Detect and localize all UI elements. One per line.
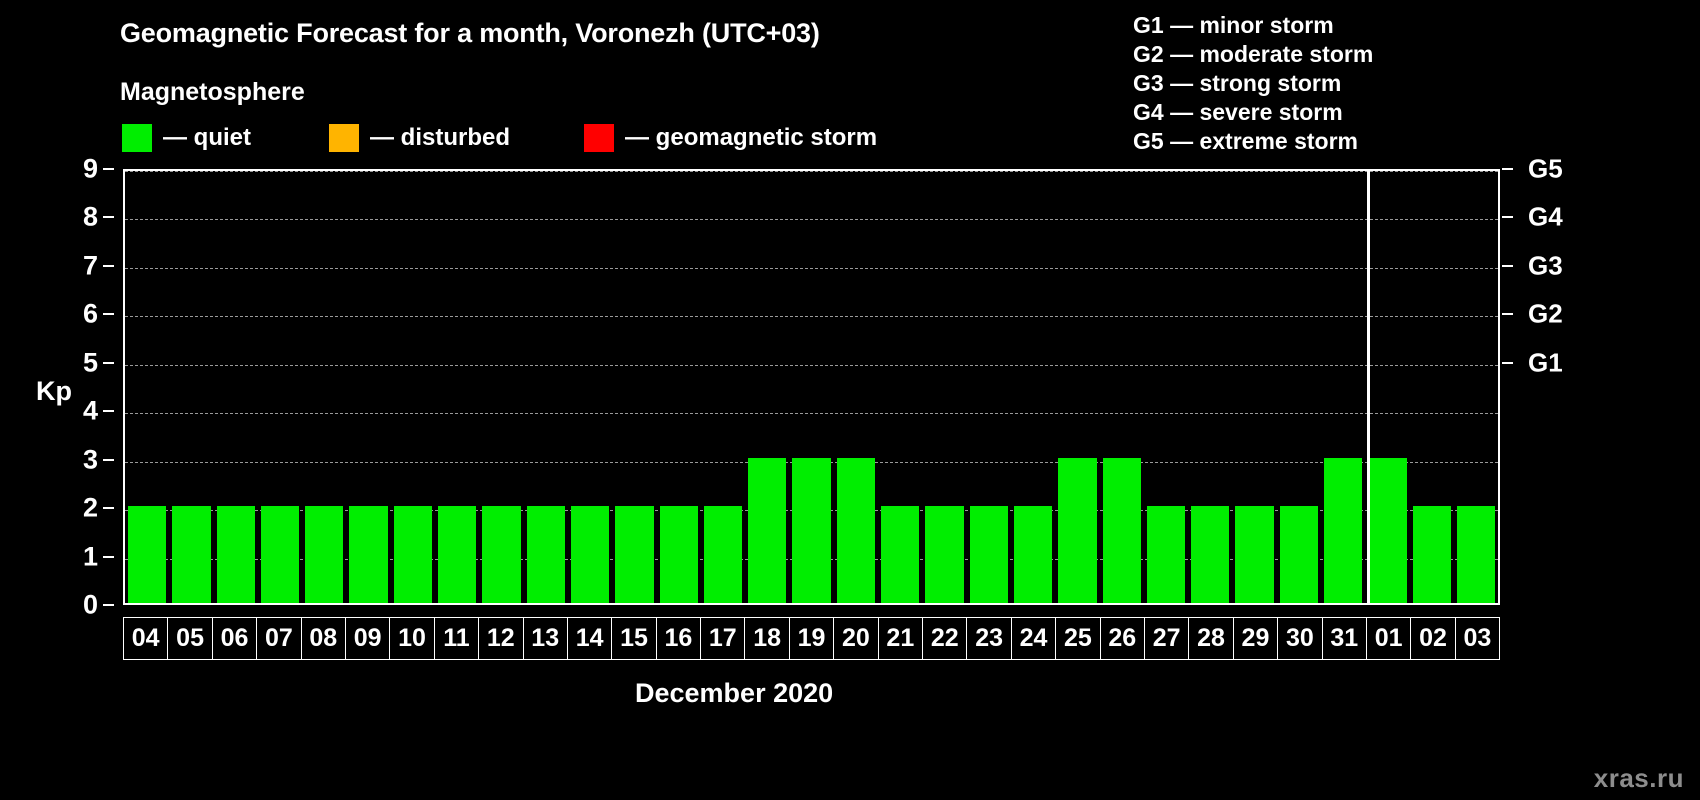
date-label-04[interactable]: 04 (124, 618, 168, 659)
y-tick-mark-1 (103, 556, 114, 558)
date-label-27[interactable]: 27 (1145, 618, 1189, 659)
date-label-02[interactable]: 02 (1411, 618, 1455, 659)
date-label-07[interactable]: 07 (257, 618, 301, 659)
bar-28[interactable] (1191, 506, 1229, 603)
bar-21[interactable] (881, 506, 919, 603)
y-tick-mark-8 (103, 216, 114, 218)
bar-cell[interactable] (701, 171, 745, 603)
bar-cell[interactable] (214, 171, 258, 603)
g-scale-row-g2: G2 — moderate storm (1133, 40, 1373, 69)
magnetosphere-heading: Magnetosphere (120, 78, 305, 107)
bar-cell[interactable] (657, 171, 701, 603)
bar-cell[interactable] (1365, 171, 1409, 603)
y-tick-label-6: 6 (83, 299, 98, 330)
bar-12[interactable] (482, 506, 520, 603)
color-swatch-icon-storm (584, 124, 614, 152)
bar-cell[interactable] (1454, 171, 1498, 603)
g-tick-mark-g1 (1502, 362, 1513, 364)
x-axis-title: December 2020 (635, 678, 833, 709)
date-label-31[interactable]: 31 (1323, 618, 1367, 659)
bar-cell[interactable] (967, 171, 1011, 603)
g-tick-mark-g2 (1502, 313, 1513, 315)
bar-cell[interactable] (1100, 171, 1144, 603)
y-tick-mark-2 (103, 507, 114, 509)
bar-cell[interactable] (612, 171, 656, 603)
y-tick-label-4: 4 (83, 396, 98, 427)
bar-cell[interactable] (1055, 171, 1099, 603)
bar-13[interactable] (527, 506, 565, 603)
y-tick-mark-9 (103, 168, 114, 170)
g-scale-row-g5: G5 — extreme storm (1133, 127, 1373, 156)
bar-cell[interactable] (878, 171, 922, 603)
bar-30[interactable] (1280, 506, 1318, 603)
bar-23[interactable] (970, 506, 1008, 603)
g-tick-label-g3: G3 (1528, 250, 1563, 281)
g-scale-row-g4: G4 — severe storm (1133, 98, 1373, 127)
bar-cell[interactable] (1277, 171, 1321, 603)
bar-cell[interactable] (479, 171, 523, 603)
bar-24[interactable] (1014, 506, 1052, 603)
bar-cell[interactable] (922, 171, 966, 603)
bar-31[interactable] (1324, 458, 1362, 603)
bar-cell[interactable] (1232, 171, 1276, 603)
g-scale-row-g3: G3 — strong storm (1133, 69, 1373, 98)
bar-15[interactable] (615, 506, 653, 603)
date-label-05[interactable]: 05 (168, 618, 212, 659)
plot-area (123, 169, 1500, 605)
bar-series (125, 171, 1498, 603)
month-divider-line (1367, 171, 1370, 603)
bar-cell[interactable] (1011, 171, 1055, 603)
date-axis: 0405060708091011121314151617181920212223… (123, 617, 1500, 660)
bar-cell[interactable] (568, 171, 612, 603)
bar-cell[interactable] (834, 171, 878, 603)
y-tick-mark-6 (103, 313, 114, 315)
g-tick-label-g2: G2 (1528, 299, 1563, 330)
y-tick-label-8: 8 (83, 202, 98, 233)
bar-cell[interactable] (125, 171, 169, 603)
bar-05[interactable] (172, 506, 210, 603)
g-scale-row-g1: G1 — minor storm (1133, 11, 1373, 40)
g-tick-label-g4: G4 (1528, 202, 1563, 233)
bar-19[interactable] (792, 458, 830, 603)
date-label-01[interactable]: 01 (1367, 618, 1411, 659)
date-label-19[interactable]: 19 (790, 618, 834, 659)
y-tick-label-9: 9 (83, 154, 98, 185)
bar-04[interactable] (128, 506, 166, 603)
date-label-24[interactable]: 24 (1012, 618, 1056, 659)
y-tick-mark-5 (103, 362, 114, 364)
bar-07[interactable] (261, 506, 299, 603)
bar-20[interactable] (837, 458, 875, 603)
legend-label-quiet: — quiet (163, 124, 251, 152)
bar-29[interactable] (1235, 506, 1273, 603)
y-axis-title: Kp (36, 376, 72, 407)
bar-cell[interactable] (258, 171, 302, 603)
date-label-11[interactable]: 11 (435, 618, 479, 659)
date-label-06[interactable]: 06 (213, 618, 257, 659)
color-swatch-icon-quiet (122, 124, 152, 152)
y-tick-mark-7 (103, 265, 114, 267)
date-label-08[interactable]: 08 (302, 618, 346, 659)
y-tick-label-5: 5 (83, 347, 98, 378)
date-label-18[interactable]: 18 (745, 618, 789, 659)
date-label-13[interactable]: 13 (524, 618, 568, 659)
date-label-28[interactable]: 28 (1189, 618, 1233, 659)
date-label-20[interactable]: 20 (834, 618, 878, 659)
legend-item-geomagnetic-storm: — geomagnetic storm (584, 122, 877, 154)
date-label-29[interactable]: 29 (1234, 618, 1278, 659)
bar-01[interactable] (1368, 458, 1406, 603)
bar-03[interactable] (1457, 506, 1495, 603)
g-tick-label-g5: G5 (1528, 154, 1563, 185)
date-label-23[interactable]: 23 (967, 618, 1011, 659)
date-label-21[interactable]: 21 (879, 618, 923, 659)
magnetosphere-legend: — quiet — disturbed — geomagnetic storm (122, 122, 877, 154)
color-swatch-icon-disturbed (329, 124, 359, 152)
bar-06[interactable] (217, 506, 255, 603)
bar-10[interactable] (394, 506, 432, 603)
page-title: Geomagnetic Forecast for a month, Vorone… (120, 18, 820, 49)
legend-label-storm: — geomagnetic storm (625, 124, 877, 152)
date-label-22[interactable]: 22 (923, 618, 967, 659)
bar-27[interactable] (1147, 506, 1185, 603)
date-label-16[interactable]: 16 (657, 618, 701, 659)
y-tick-mark-3 (103, 459, 114, 461)
legend-item-quiet: — quiet (122, 122, 251, 154)
bar-26[interactable] (1103, 458, 1141, 603)
bar-cell[interactable] (169, 171, 213, 603)
y-tick-label-0: 0 (83, 590, 98, 621)
g-tick-label-g1: G1 (1528, 347, 1563, 378)
y-tick-mark-0 (103, 604, 114, 606)
g-scale-legend: G1 — minor storm G2 — moderate storm G3 … (1133, 11, 1373, 156)
y-tick-label-7: 7 (83, 250, 98, 281)
g-tick-mark-g5 (1502, 168, 1513, 170)
bar-cell[interactable] (302, 171, 346, 603)
date-label-26[interactable]: 26 (1101, 618, 1145, 659)
date-label-17[interactable]: 17 (701, 618, 745, 659)
bar-02[interactable] (1413, 506, 1451, 603)
g-scale-axis: G5G4G3G2G1 (1500, 169, 1590, 605)
bar-cell[interactable] (524, 171, 568, 603)
bar-cell[interactable] (1188, 171, 1232, 603)
bar-cell[interactable] (1410, 171, 1454, 603)
bar-14[interactable] (571, 506, 609, 603)
bar-17[interactable] (704, 506, 742, 603)
bar-cell[interactable] (1144, 171, 1188, 603)
date-label-09[interactable]: 09 (346, 618, 390, 659)
date-label-10[interactable]: 10 (390, 618, 434, 659)
bar-11[interactable] (438, 506, 476, 603)
date-label-15[interactable]: 15 (612, 618, 656, 659)
bar-cell[interactable] (789, 171, 833, 603)
bar-08[interactable] (305, 506, 343, 603)
g-tick-mark-g4 (1502, 216, 1513, 218)
bar-cell[interactable] (391, 171, 435, 603)
bar-16[interactable] (660, 506, 698, 603)
y-tick-label-3: 3 (83, 444, 98, 475)
y-tick-mark-4 (103, 410, 114, 412)
legend-label-disturbed: — disturbed (370, 124, 510, 152)
bar-cell[interactable] (745, 171, 789, 603)
y-axis: 0123456789 (74, 169, 114, 605)
bar-22[interactable] (925, 506, 963, 603)
bar-18[interactable] (748, 458, 786, 603)
watermark: xras.ru (1594, 763, 1684, 794)
bar-cell[interactable] (435, 171, 479, 603)
date-label-03[interactable]: 03 (1456, 618, 1499, 659)
g-tick-mark-g3 (1502, 265, 1513, 267)
date-label-14[interactable]: 14 (568, 618, 612, 659)
bar-09[interactable] (349, 506, 387, 603)
date-label-30[interactable]: 30 (1278, 618, 1322, 659)
y-tick-label-1: 1 (83, 541, 98, 572)
bar-cell[interactable] (1321, 171, 1365, 603)
bar-25[interactable] (1058, 458, 1096, 603)
bar-cell[interactable] (346, 171, 390, 603)
legend-item-disturbed: — disturbed (329, 122, 510, 154)
date-label-12[interactable]: 12 (479, 618, 523, 659)
date-label-25[interactable]: 25 (1056, 618, 1100, 659)
y-tick-label-2: 2 (83, 493, 98, 524)
